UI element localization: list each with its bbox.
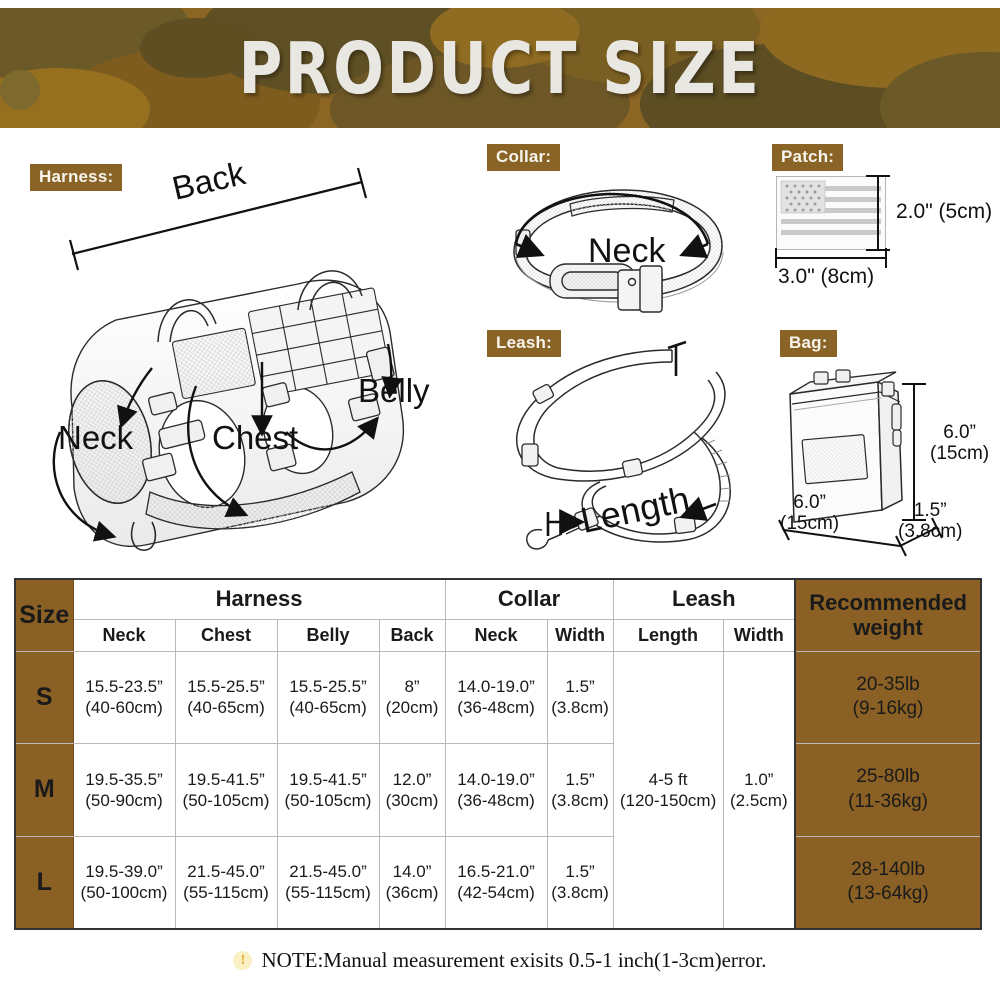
cell-m-collar-neck: 14.0-19.0” (36-48cm): [445, 744, 547, 837]
page-title: PRODUCT SIZE: [80, 8, 920, 128]
cell-value-cm: (40-65cm): [278, 697, 379, 718]
cell-value-cm: (50-105cm): [278, 790, 379, 811]
cell-value-cm: (36cm): [380, 882, 445, 903]
table-col-collar-neck: Neck: [445, 619, 547, 651]
cell-value-in: 8”: [380, 676, 445, 697]
table-col-leash-width: Width: [723, 619, 795, 651]
cell-s-harness-chest: 15.5-25.5” (40-65cm): [175, 651, 277, 744]
harness-label-belly: Belly: [358, 372, 430, 410]
bag-dim-width-line1: 6.0”: [780, 492, 839, 513]
chip-patch: Patch:: [772, 144, 843, 171]
patch-illustration-us-flag: [776, 176, 886, 250]
row-size-m: M: [15, 744, 73, 837]
bag-dim-depth-line2: (3.8cm): [898, 521, 962, 542]
bag-dim-width: 6.0” (15cm): [780, 492, 839, 535]
cell-value-in: 19.5-35.5”: [74, 769, 175, 790]
cell-s-harness-neck: 15.5-23.5” (40-60cm): [73, 651, 175, 744]
cell-value-in: 12.0”: [380, 769, 445, 790]
row-size-l: L: [15, 836, 73, 929]
cell-l-harness-chest: 21.5-45.0” (55-115cm): [175, 836, 277, 929]
leash-width-line2: (2.5cm): [724, 790, 795, 811]
bag-dim-depth: 1.5” (3.8cm): [898, 500, 962, 543]
cell-value-cm: (55-115cm): [176, 882, 277, 903]
chip-leash: Leash:: [487, 330, 561, 357]
table-group-collar: Collar: [445, 579, 613, 619]
cell-l-collar-neck: 16.5-21.0” (42-54cm): [445, 836, 547, 929]
patch-dim-width: 3.0" (8cm): [778, 265, 874, 289]
cell-value-in: 21.5-45.0”: [278, 861, 379, 882]
header-banner: PRODUCT SIZE: [0, 8, 1000, 128]
cell-value-cm: (50-100cm): [74, 882, 175, 903]
cell-value-cm: (3.8cm): [548, 882, 613, 903]
leash-length-line2: (120-150cm): [614, 790, 723, 811]
chip-harness: Harness:: [30, 164, 122, 191]
cell-value-cm: (50-105cm): [176, 790, 277, 811]
weight-lb: 20-35lb: [796, 673, 980, 698]
cell-l-harness-back: 14.0” (36cm): [379, 836, 445, 929]
cell-leash-width: 1.0” (2.5cm): [723, 651, 795, 929]
table-col-leash-length: Length: [613, 619, 723, 651]
cell-value-in: 1.5”: [548, 861, 613, 882]
cell-s-collar-neck: 14.0-19.0” (36-48cm): [445, 651, 547, 744]
cell-l-harness-belly: 21.5-45.0” (55-115cm): [277, 836, 379, 929]
cell-value-in: 15.5-25.5”: [176, 676, 277, 697]
table-col-harness-belly: Belly: [277, 619, 379, 651]
weight-header-line2: weight: [796, 615, 980, 640]
bag-dim-height-line2: (15cm): [930, 443, 989, 464]
leash-width-line1: 1.0”: [724, 769, 795, 790]
cell-value-cm: (20cm): [380, 697, 445, 718]
cell-value-cm: (3.8cm): [548, 697, 613, 718]
table-group-harness: Harness: [73, 579, 445, 619]
collar-label-neck: Neck: [588, 232, 665, 271]
weight-kg: (9-16kg): [796, 697, 980, 722]
cell-s-harness-belly: 15.5-25.5” (40-65cm): [277, 651, 379, 744]
cell-value-cm: (40-65cm): [176, 697, 277, 718]
note-text: NOTE:Manual measurement exisits 0.5-1 in…: [261, 948, 766, 973]
table-group-header-row: Size Harness Collar Leash Recommended we…: [15, 579, 981, 619]
cell-value-in: 15.5-23.5”: [74, 676, 175, 697]
cell-s-weight: 20-35lb (9-16kg): [795, 651, 981, 744]
table-col-harness-neck: Neck: [73, 619, 175, 651]
cell-value-cm: (36-48cm): [446, 790, 547, 811]
weight-lb: 28-140lb: [796, 858, 980, 883]
cell-m-collar-width: 1.5” (3.8cm): [547, 744, 613, 837]
cell-s-collar-width: 1.5” (3.8cm): [547, 651, 613, 744]
cell-value-in: 14.0-19.0”: [446, 676, 547, 697]
cell-leash-length: 4-5 ft (120-150cm): [613, 651, 723, 929]
table-col-harness-back: Back: [379, 619, 445, 651]
cell-value-in: 1.5”: [548, 769, 613, 790]
bag-dim-depth-line1: 1.5”: [898, 500, 962, 521]
cell-value-cm: (30cm): [380, 790, 445, 811]
cell-value-in: 16.5-21.0”: [446, 861, 547, 882]
table-header-size: Size: [15, 579, 73, 651]
cell-value-cm: (42-54cm): [446, 882, 547, 903]
harness-label-chest: Chest: [212, 419, 298, 457]
table-header-recommended-weight: Recommended weight: [795, 579, 981, 651]
bag-dim-height: 6.0” (15cm): [930, 422, 989, 465]
cell-m-harness-neck: 19.5-35.5” (50-90cm): [73, 744, 175, 837]
cell-value-cm: (3.8cm): [548, 790, 613, 811]
weight-kg: (13-64kg): [796, 882, 980, 907]
chip-collar: Collar:: [487, 144, 560, 171]
cell-s-harness-back: 8” (20cm): [379, 651, 445, 744]
product-size-infographic: PRODUCT SIZE Harness: Collar: Patch: Lea…: [0, 0, 1000, 1000]
table-col-collar-width: Width: [547, 619, 613, 651]
cell-value-in: 1.5”: [548, 676, 613, 697]
warning-icon: !: [233, 951, 252, 970]
table-group-leash: Leash: [613, 579, 795, 619]
cell-value-in: 14.0-19.0”: [446, 769, 547, 790]
harness-label-neck: Neck: [58, 419, 133, 457]
cell-l-weight: 28-140lb (13-64kg): [795, 836, 981, 929]
cell-l-collar-width: 1.5” (3.8cm): [547, 836, 613, 929]
cell-m-weight: 25-80lb (11-36kg): [795, 744, 981, 837]
cell-l-harness-neck: 19.5-39.0” (50-100cm): [73, 836, 175, 929]
bag-dim-width-line2: (15cm): [780, 513, 839, 534]
cell-value-in: 14.0”: [380, 861, 445, 882]
leash-length-line1: 4-5 ft: [614, 769, 723, 790]
cell-value-in: 21.5-45.0”: [176, 861, 277, 882]
cell-value-in: 19.5-41.5”: [278, 769, 379, 790]
diagram-area: Harness: Collar: Patch: Leash: Bag:: [0, 132, 1000, 570]
note-row: ! NOTE:Manual measurement exisits 0.5-1 …: [0, 948, 1000, 973]
cell-m-harness-belly: 19.5-41.5” (50-105cm): [277, 744, 379, 837]
table-row: L 19.5-39.0” (50-100cm) 21.5-45.0” (55-1…: [15, 836, 981, 929]
cell-value-cm: (55-115cm): [278, 882, 379, 903]
size-table: Size Harness Collar Leash Recommended we…: [14, 578, 982, 930]
row-size-s: S: [15, 651, 73, 744]
weight-header-line1: Recommended: [796, 590, 980, 615]
table-row: S 15.5-23.5” (40-60cm) 15.5-25.5” (40-65…: [15, 651, 981, 744]
chip-bag: Bag:: [780, 330, 837, 357]
cell-value-cm: (50-90cm): [74, 790, 175, 811]
cell-value-cm: (40-60cm): [74, 697, 175, 718]
size-table-wrapper: Size Harness Collar Leash Recommended we…: [14, 578, 980, 930]
table-col-harness-chest: Chest: [175, 619, 277, 651]
cell-value-in: 15.5-25.5”: [278, 676, 379, 697]
cell-m-harness-chest: 19.5-41.5” (50-105cm): [175, 744, 277, 837]
weight-lb: 25-80lb: [796, 765, 980, 790]
cell-value-in: 19.5-39.0”: [74, 861, 175, 882]
cell-value-in: 19.5-41.5”: [176, 769, 277, 790]
patch-dim-height: 2.0" (5cm): [896, 200, 992, 224]
table-row: M 19.5-35.5” (50-90cm) 19.5-41.5” (50-10…: [15, 744, 981, 837]
cell-value-cm: (36-48cm): [446, 697, 547, 718]
bag-dim-height-line1: 6.0”: [930, 422, 989, 443]
cell-m-harness-back: 12.0” (30cm): [379, 744, 445, 837]
weight-kg: (11-36kg): [796, 790, 980, 815]
